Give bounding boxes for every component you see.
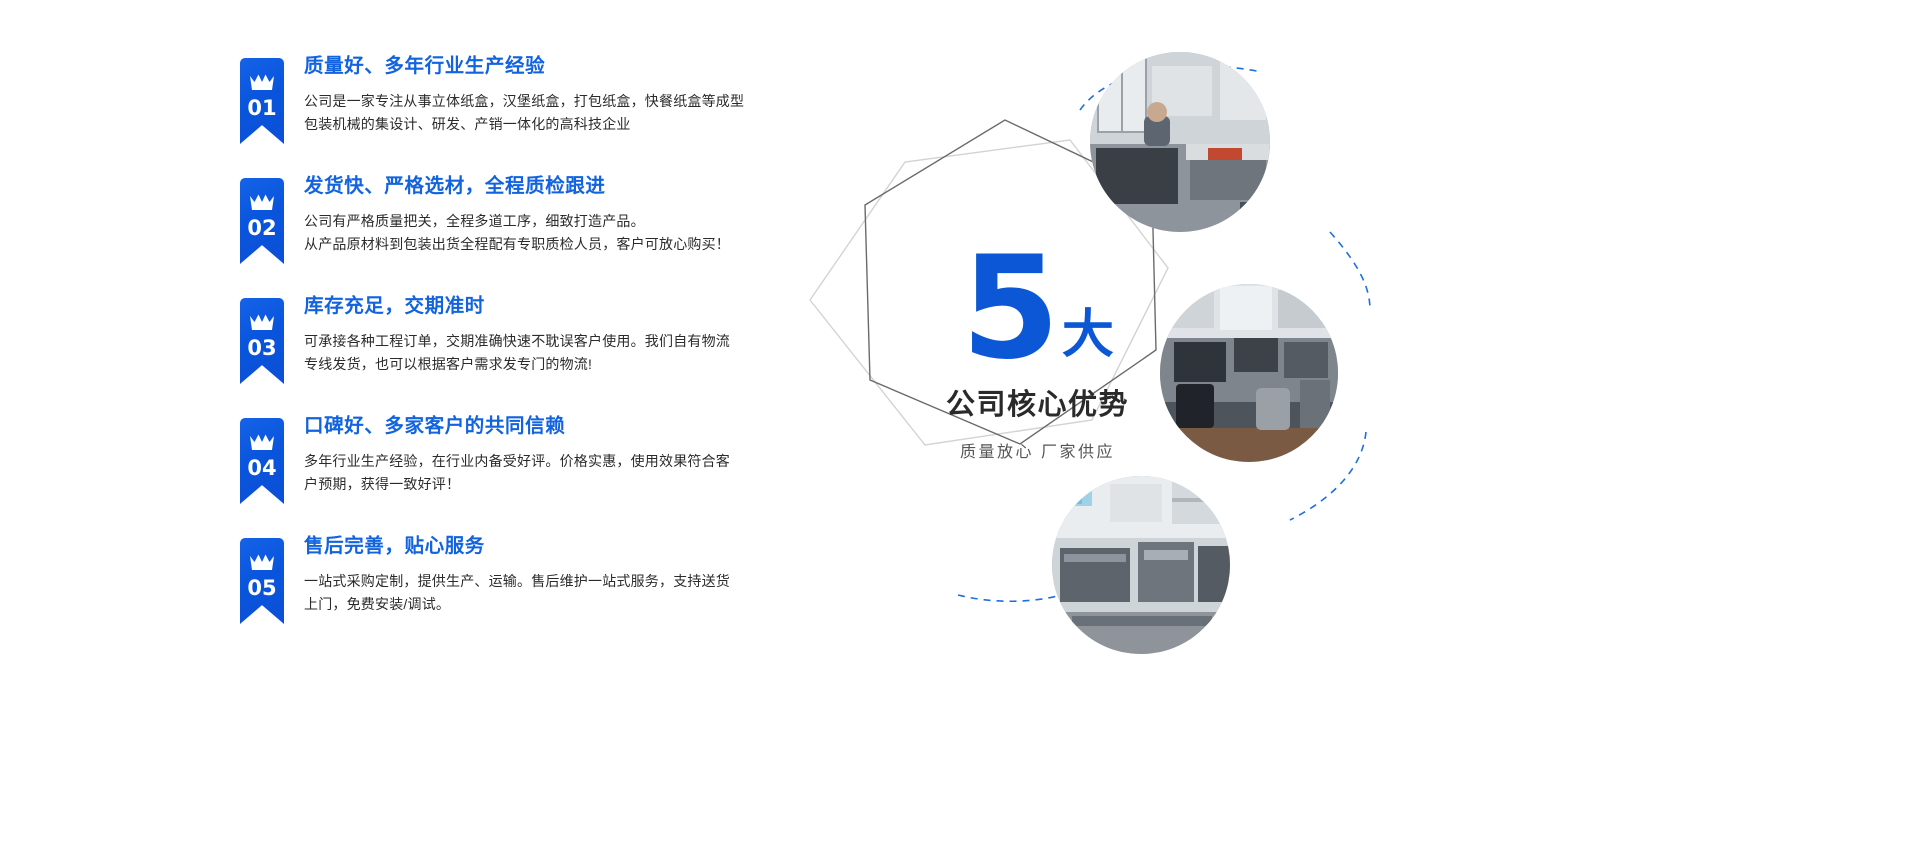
feature-item-04: 04 口碑好、多家客户的共同信赖 多年行业生产经验，在行业内备受好评。价格实惠，…	[240, 412, 770, 504]
feature-list: 01 质量好、多年行业生产经验 公司是一家专注从事立体纸盒，汉堡纸盒，打包纸盒，…	[240, 52, 770, 652]
feature-text: 口碑好、多家客户的共同信赖 多年行业生产经验，在行业内备受好评。价格实惠，使用效…	[304, 412, 770, 496]
feature-badge: 05	[240, 538, 284, 624]
feature-desc-line: 上门，免费安装/调试。	[304, 593, 770, 616]
badge-number: 04	[240, 456, 284, 480]
feature-badge: 01	[240, 58, 284, 144]
feature-text: 发货快、严格选材，全程质检跟进 公司有严格质量把关，全程多道工序，细致打造产品。…	[304, 172, 770, 256]
feature-desc-line: 公司是一家专注从事立体纸盒，汉堡纸盒，打包纸盒，快餐纸盒等成型	[304, 90, 770, 113]
feature-desc-line: 包装机械的集设计、研发、产销一体化的高科技企业	[304, 113, 770, 136]
feature-text: 质量好、多年行业生产经验 公司是一家专注从事立体纸盒，汉堡纸盒，打包纸盒，快餐纸…	[304, 52, 770, 136]
badge-number: 03	[240, 336, 284, 360]
feature-text: 库存充足，交期准时 可承接各种工程订单，交期准确快速不耽误客户使用。我们自有物流…	[304, 292, 770, 376]
feature-title: 发货快、严格选材，全程质检跟进	[304, 174, 770, 199]
feature-desc-line: 户预期，获得一致好评！	[304, 473, 770, 496]
feature-description: 可承接各种工程订单，交期准确快速不耽误客户使用。我们自有物流 专线发货，也可以根…	[304, 330, 770, 375]
hexagon-big-number: 5	[961, 244, 1058, 375]
feature-item-02: 02 发货快、严格选材，全程质检跟进 公司有严格质量把关，全程多道工序，细致打造…	[240, 172, 770, 264]
feature-desc-line: 公司有严格质量把关，全程多道工序，细致打造产品。	[304, 210, 770, 233]
badge-number: 02	[240, 216, 284, 240]
feature-desc-line: 可承接各种工程订单，交期准确快速不耽误客户使用。我们自有物流	[304, 330, 770, 353]
feature-title: 售后完善，贴心服务	[304, 534, 770, 559]
dashed-connector-middle	[1330, 232, 1370, 310]
feature-desc-line: 从产品原材料到包装出货全程配有专职质检人员，客户可放心购买！	[304, 233, 770, 256]
feature-desc-line: 专线发货，也可以根据客户需求发专门的物流!	[304, 353, 770, 376]
crown-icon	[249, 73, 275, 91]
feature-description: 多年行业生产经验，在行业内备受好评。价格实惠，使用效果符合客 户预期，获得一致好…	[304, 450, 770, 495]
feature-desc-line: 一站式采购定制，提供生产、运输。售后维护一站式服务，支持送货	[304, 570, 770, 593]
crown-icon	[249, 193, 275, 211]
hexagon-sub-label: 质量放心 厂家供应	[865, 438, 1210, 462]
office-workstation-photo	[1090, 52, 1270, 232]
feature-desc-line: 多年行业生产经验，在行业内备受好评。价格实惠，使用效果符合客	[304, 450, 770, 473]
office-desks-photo	[1160, 284, 1338, 462]
feature-item-05: 05 售后完善，贴心服务 一站式采购定制，提供生产、运输。售后维护一站式服务，支…	[240, 532, 770, 624]
dashed-connector-lower	[1290, 432, 1366, 520]
feature-item-03: 03 库存充足，交期准时 可承接各种工程订单，交期准确快速不耽误客户使用。我们自…	[240, 292, 770, 384]
feature-item-01: 01 质量好、多年行业生产经验 公司是一家专注从事立体纸盒，汉堡纸盒，打包纸盒，…	[240, 52, 770, 144]
badge-number: 05	[240, 576, 284, 600]
feature-description: 一站式采购定制，提供生产、运输。售后维护一站式服务，支持送货 上门，免费安装/调…	[304, 570, 770, 615]
feature-description: 公司有严格质量把关，全程多道工序，细致打造产品。 从产品原材料到包装出货全程配有…	[304, 210, 770, 255]
feature-title: 口碑好、多家客户的共同信赖	[304, 414, 770, 439]
feature-badge: 03	[240, 298, 284, 384]
hexagon-big-unit: 大	[1062, 309, 1114, 361]
feature-description: 公司是一家专注从事立体纸盒，汉堡纸盒，打包纸盒，快餐纸盒等成型 包装机械的集设计…	[304, 90, 770, 135]
crown-icon	[249, 313, 275, 331]
badge-number: 01	[240, 96, 284, 120]
hexagon-center-content: 5 大 公司核心优势 质量放心 厂家供应	[865, 240, 1210, 462]
advantage-graphic: 5 大 公司核心优势 质量放心 厂家供应	[770, 0, 1920, 847]
page-root: 01 质量好、多年行业生产经验 公司是一家专注从事立体纸盒，汉堡纸盒，打包纸盒，…	[0, 0, 1920, 847]
hexagon-headline: 5 大	[865, 240, 1210, 375]
feature-title: 库存充足，交期准时	[304, 294, 770, 319]
feature-badge: 04	[240, 418, 284, 504]
feature-badge: 02	[240, 178, 284, 264]
feature-title: 质量好、多年行业生产经验	[304, 54, 770, 79]
crown-icon	[249, 433, 275, 451]
feature-text: 售后完善，贴心服务 一站式采购定制，提供生产、运输。售后维护一站式服务，支持送货…	[304, 532, 770, 616]
production-machine-photo	[1052, 476, 1230, 654]
crown-icon	[249, 553, 275, 571]
